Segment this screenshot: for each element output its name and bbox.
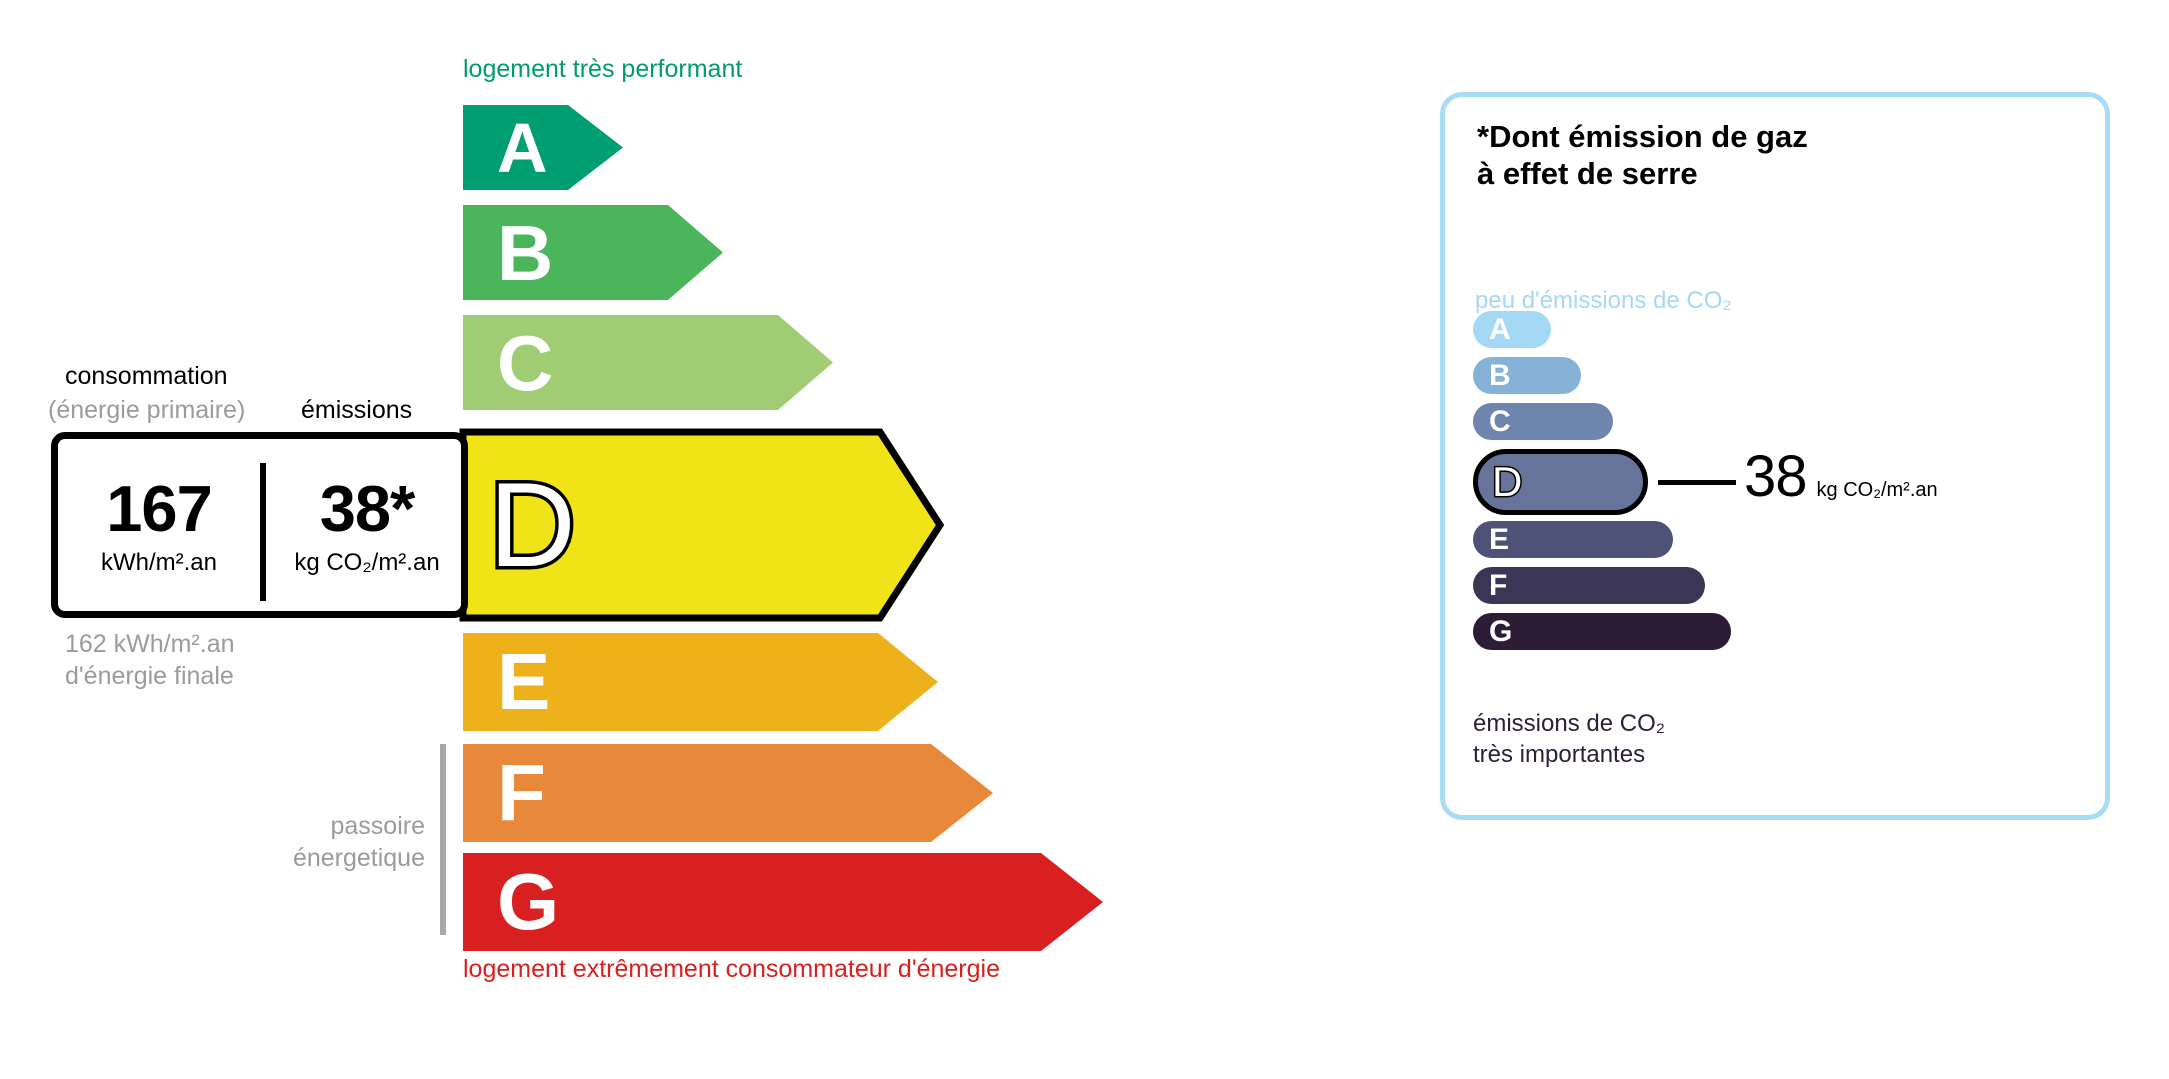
emissions-header: émissions: [301, 396, 412, 425]
measured-values-box: 167 kWh/m².an 38* kg CO₂/m².an: [51, 432, 468, 618]
co2-bar-b: B: [1473, 357, 1581, 394]
energy-band-letter-f: F: [497, 753, 545, 833]
energy-bottom-caption: logement extrêmement consommateur d'éner…: [463, 955, 1000, 984]
co2-bar-d: D: [1473, 449, 1648, 515]
passoire-label: passoire énergetique: [0, 810, 425, 874]
co2-value-number: 38: [1744, 448, 1807, 506]
consumption-header: consommation: [65, 362, 228, 391]
consumption-value-cell: 167 kWh/m².an: [58, 439, 260, 611]
energy-band-f: F: [463, 744, 993, 842]
energy-top-caption: logement très performant: [463, 55, 742, 84]
co2-bar-letter-c: C: [1489, 407, 1511, 437]
consumption-value: 167: [106, 476, 211, 541]
co2-leader-line: [1658, 480, 1736, 485]
energy-band-g: G: [463, 853, 1103, 951]
consumption-unit: kWh/m².an: [101, 551, 217, 575]
passoire-line1: passoire: [0, 810, 425, 842]
energy-band-d: D: [463, 432, 940, 618]
co2-bar-g: G: [1473, 613, 1731, 650]
co2-emissions-panel: *Dont émission de gaz à effet de serre p…: [1440, 92, 2110, 820]
co2-bar-e: E: [1473, 521, 1673, 558]
co2-bar-letter-d: D: [1492, 461, 1522, 503]
co2-measured-value: 38 kg CO₂/m².an: [1744, 448, 1938, 506]
energy-band-letter-b: B: [497, 214, 552, 292]
dpe-label: logement très performant ABCDEFG consomm…: [0, 0, 2169, 1079]
energy-performance-chart: logement très performant ABCDEFG consomm…: [0, 0, 1400, 1079]
co2-bar-a: A: [1473, 311, 1551, 348]
emission-unit: kg CO₂/m².an: [294, 551, 439, 575]
energy-band-c: C: [463, 315, 833, 410]
final-energy-note: 162 kWh/m².an d'énergie finale: [65, 628, 235, 692]
final-energy-line2: d'énergie finale: [65, 660, 235, 692]
energy-band-letter-a: A: [497, 113, 547, 183]
energy-band-letter-g: G: [497, 862, 558, 942]
energy-band-letter-e: E: [497, 642, 549, 722]
co2-bar-f: F: [1473, 567, 1705, 604]
co2-bar-letter-f: F: [1489, 571, 1507, 601]
final-energy-line1: 162 kWh/m².an: [65, 628, 235, 660]
energy-band-a: A: [463, 105, 623, 190]
passoire-bracket: [440, 744, 446, 935]
co2-bar-letter-b: B: [1489, 361, 1511, 391]
energy-band-letter-c: C: [497, 324, 552, 402]
co2-panel-title: *Dont émission de gaz à effet de serre: [1477, 119, 1808, 192]
co2-title-line2: à effet de serre: [1477, 156, 1808, 193]
co2-bar-letter-g: G: [1489, 617, 1512, 647]
co2-value-unit: kg CO₂/m².an: [1817, 479, 1938, 502]
energy-band-e: E: [463, 633, 938, 731]
energy-band-letter-d: D: [489, 465, 575, 585]
co2-bar-letter-a: A: [1489, 315, 1511, 345]
co2-bottom-line1: émissions de CO₂: [1473, 709, 1665, 740]
energy-band-b: B: [463, 205, 723, 300]
emission-value: 38*: [320, 476, 415, 541]
co2-bottom-caption: émissions de CO₂ très importantes: [1473, 709, 1665, 770]
emission-value-cell: 38* kg CO₂/m².an: [266, 439, 468, 611]
passoire-line2: énergetique: [0, 842, 425, 874]
co2-bar-c: C: [1473, 403, 1613, 440]
consumption-subheader: (énergie primaire): [48, 396, 245, 425]
co2-bar-letter-e: E: [1489, 525, 1509, 555]
co2-title-line1: *Dont émission de gaz: [1477, 119, 1808, 156]
co2-bottom-line2: très importantes: [1473, 740, 1665, 771]
